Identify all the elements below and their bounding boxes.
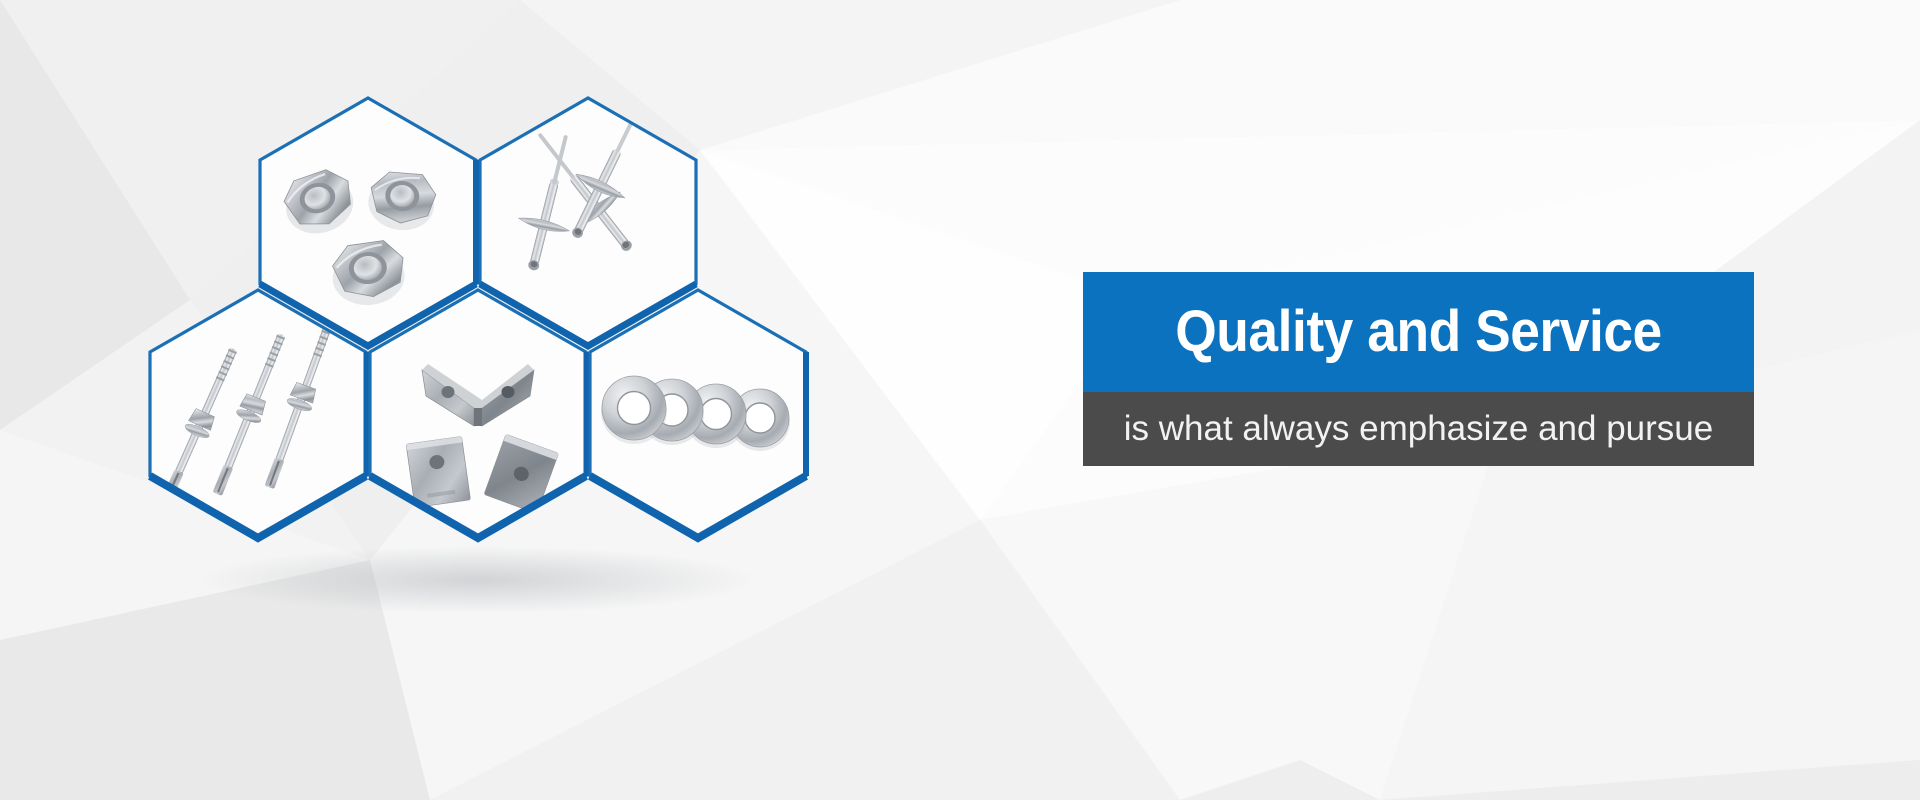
message-block: Quality and Service is what always empha… [1083, 272, 1754, 466]
promo-banner: Quality and Service is what always empha… [0, 0, 1920, 800]
hexagon-cluster [0, 0, 1000, 800]
cluster-shadow [198, 546, 758, 614]
headline-bar: Quality and Service [1083, 272, 1754, 392]
headline-text: Quality and Service [1110, 272, 1727, 392]
subline-text: is what always emphasize and pursue [1083, 392, 1754, 466]
